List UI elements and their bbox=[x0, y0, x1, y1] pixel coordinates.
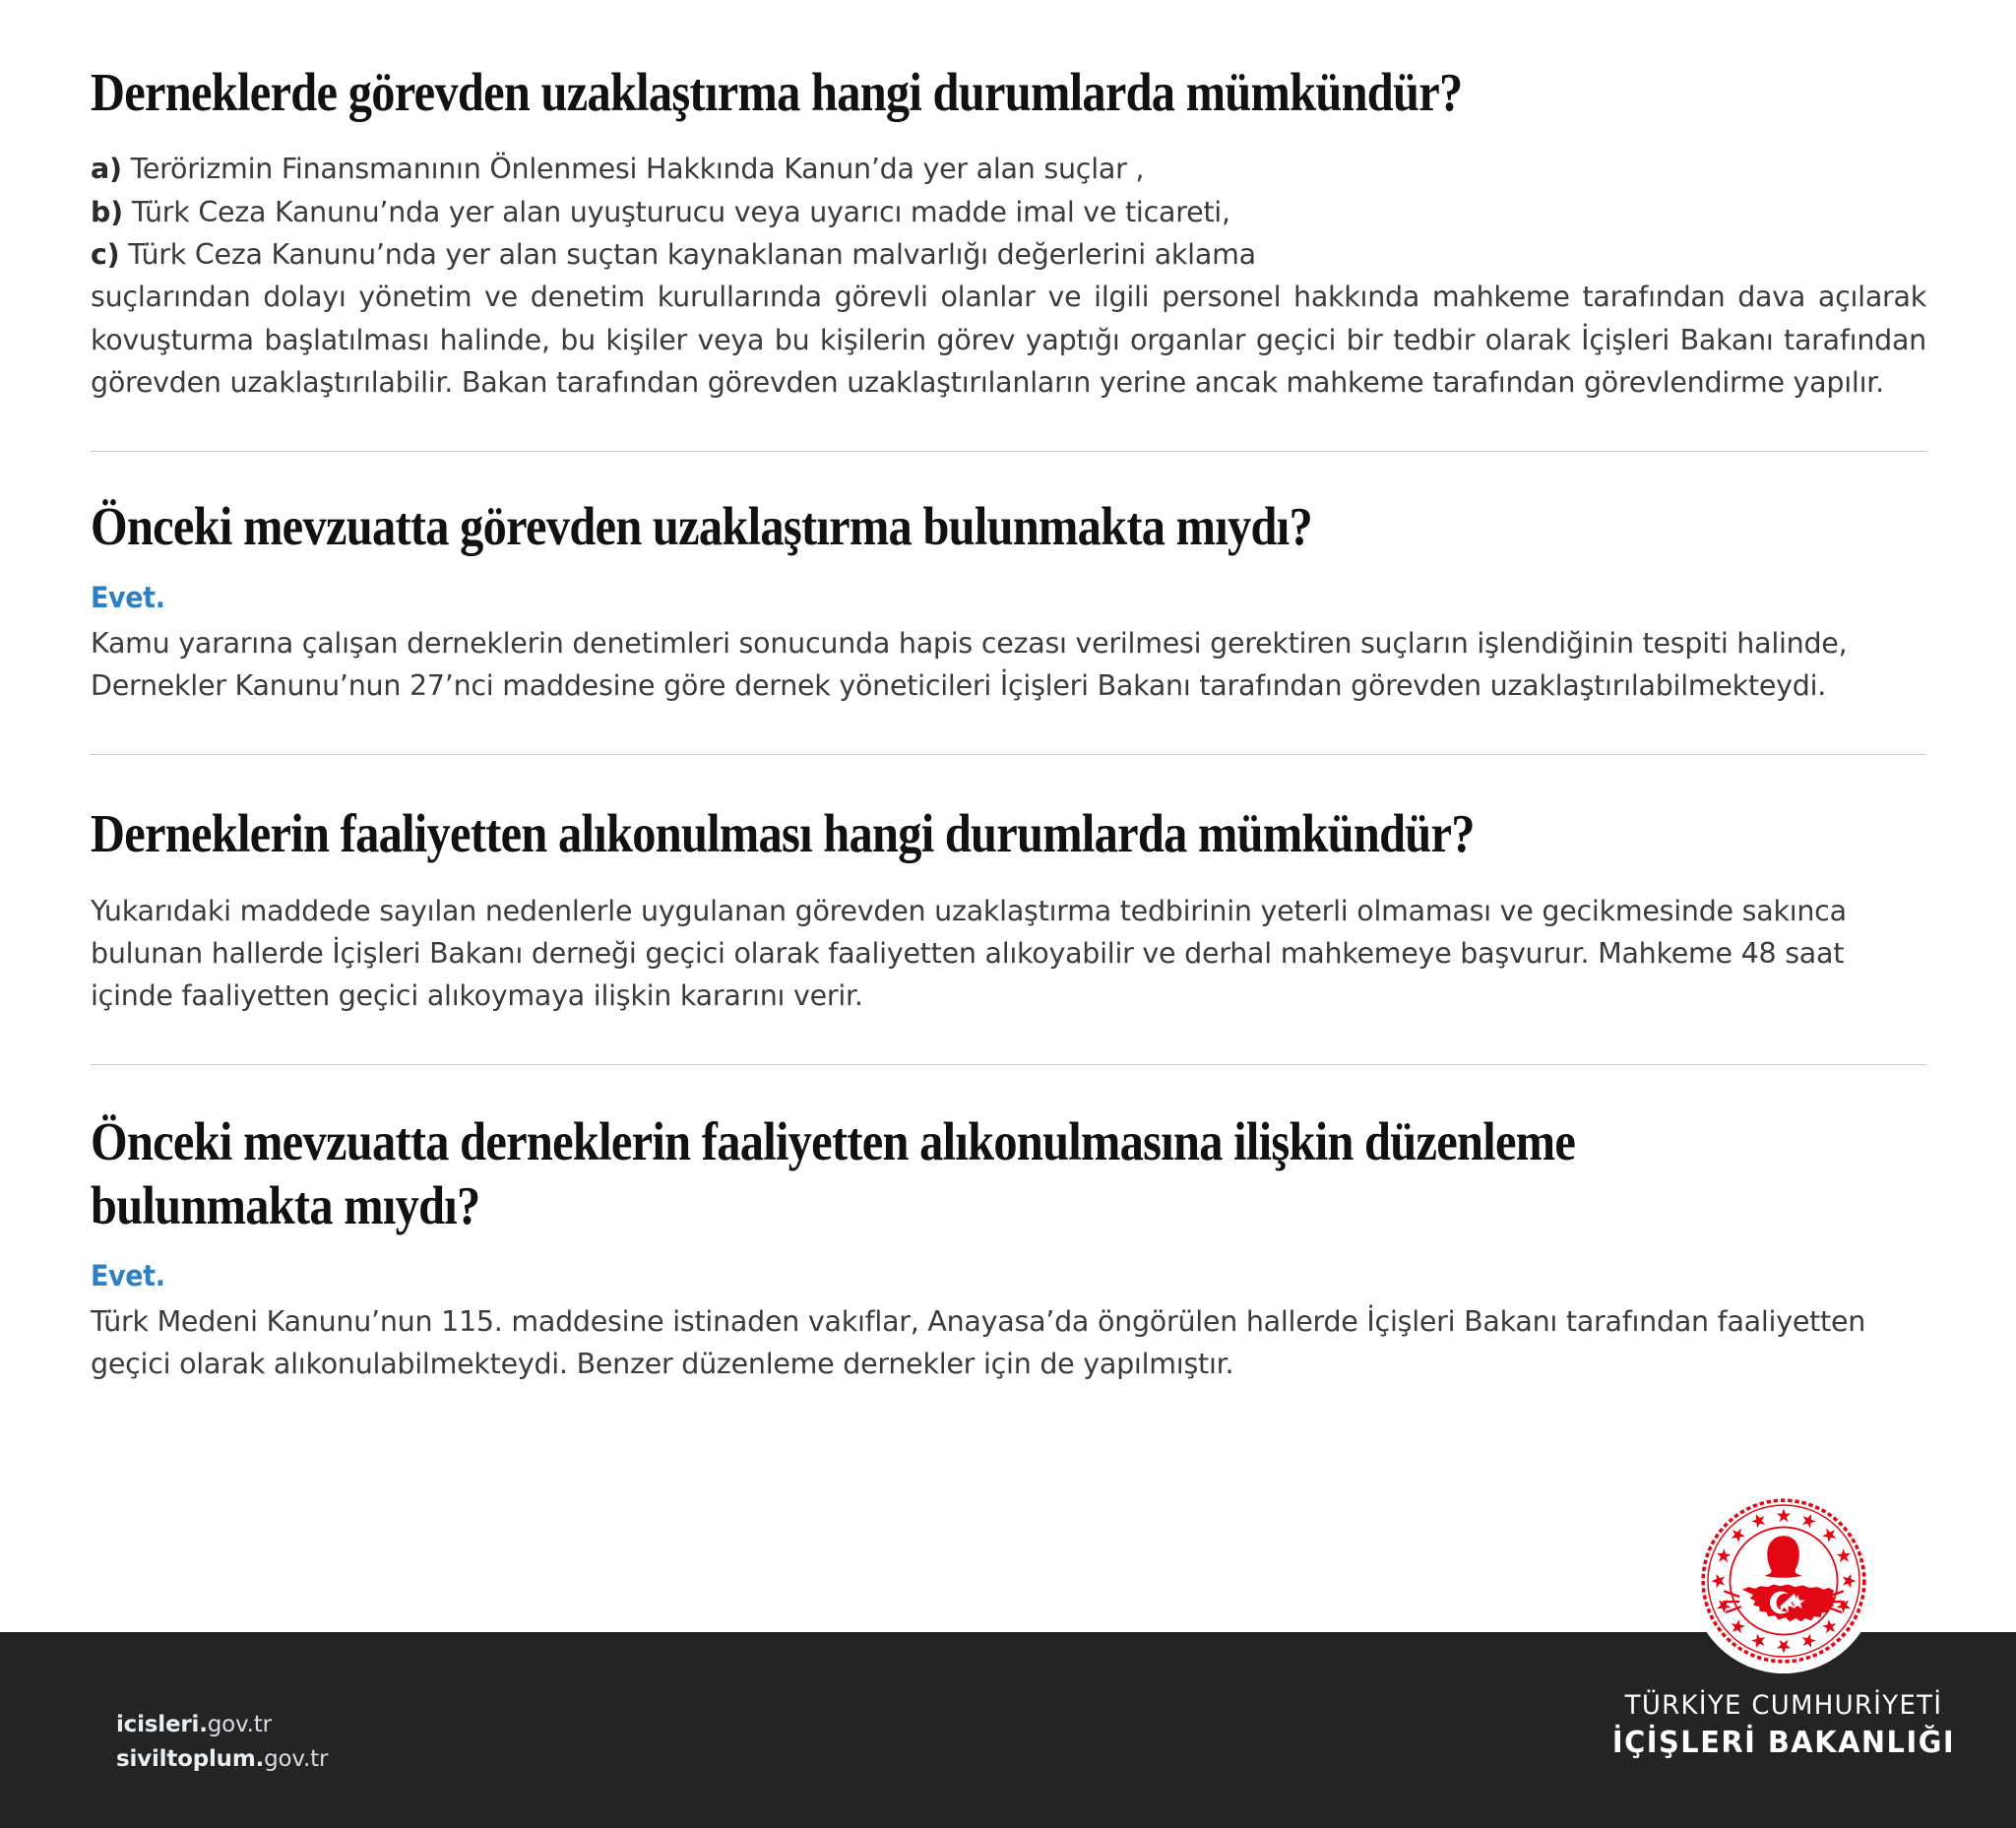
ministry-seal-backdrop bbox=[1691, 1488, 1876, 1673]
footer-link-siviltoplum[interactable]: siviltoplum.gov.tr bbox=[116, 1742, 328, 1777]
ataturk-silhouette bbox=[1765, 1536, 1802, 1577]
section-1-paragraph: suçlarından dolayı yönetim ve denetim ku… bbox=[91, 276, 1926, 404]
footer-link-domain: icisleri. bbox=[116, 1712, 208, 1737]
list-item-text: Terörizmin Finansmanının Önlenmesi Hakkı… bbox=[131, 153, 1145, 185]
list-marker: a) bbox=[91, 153, 122, 185]
section-heading-3: Derneklerin faaliyetten alıkonulması han… bbox=[91, 802, 1706, 865]
section-1-list: a) Terörizmin Finansmanının Önlenmesi Ha… bbox=[91, 148, 1926, 276]
footer-link-tld: gov.tr bbox=[264, 1746, 328, 1772]
ministry-branding: TÜRKİYE CUMHURİYETİ İÇİŞLERİ BAKANLIĞI bbox=[1575, 1488, 1988, 1828]
section-heading-4: Önceki mevzuatta derneklerin faaliyetten… bbox=[91, 1110, 1650, 1237]
list-item: b) Türk Ceza Kanunu’nda yer alan uyuştur… bbox=[91, 191, 1926, 233]
list-marker: c) bbox=[91, 238, 119, 271]
section-4-paragraph: Türk Medeni Kanunu’nun 115. maddesine is… bbox=[91, 1300, 1926, 1386]
section-heading-2: Önceki mevzuatta görevden uzaklaştırma b… bbox=[91, 495, 1706, 558]
ministry-name: TÜRKİYE CUMHURİYETİ İÇİŞLERİ BAKANLIĞI bbox=[1597, 1690, 1971, 1760]
list-item-text: Türk Ceza Kanunu’nda yer alan suçtan kay… bbox=[128, 238, 1256, 271]
document-content: Derneklerde görevden uzaklaştırma hangi … bbox=[91, 0, 1926, 1386]
section-3-paragraph: Yukarıdaki maddede sayılan nedenlerle uy… bbox=[91, 890, 1926, 1018]
document-page: Derneklerde görevden uzaklaştırma hangi … bbox=[0, 0, 2016, 1828]
list-marker: b) bbox=[91, 196, 123, 228]
turkish-ministry-of-interior-seal-icon bbox=[1697, 1494, 1870, 1668]
footer-link-tld: gov.tr bbox=[208, 1712, 272, 1737]
answer-label: Evet. bbox=[91, 581, 165, 614]
list-item-text: Türk Ceza Kanunu’nda yer alan uyuşturucu… bbox=[132, 196, 1230, 228]
answer-label-wrap: Evet. bbox=[91, 1259, 1926, 1292]
answer-label-wrap: Evet. bbox=[91, 581, 1926, 614]
section-2-paragraph: Kamu yararına çalışan derneklerin deneti… bbox=[91, 622, 1926, 708]
section-heading-1: Derneklerde görevden uzaklaştırma hangi … bbox=[91, 61, 1706, 124]
list-item: a) Terörizmin Finansmanının Önlenmesi Ha… bbox=[91, 148, 1926, 190]
footer-links: icisleri.gov.tr siviltoplum.gov.tr bbox=[116, 1708, 328, 1777]
ministry-department-line: İÇİŞLERİ BAKANLIĞI bbox=[1605, 1726, 1964, 1760]
footer-link-domain: siviltoplum. bbox=[116, 1746, 264, 1772]
answer-label: Evet. bbox=[91, 1259, 165, 1292]
list-item: c) Türk Ceza Kanunu’nda yer alan suçtan … bbox=[91, 233, 1926, 276]
footer-link-icisleri[interactable]: icisleri.gov.tr bbox=[116, 1708, 328, 1742]
ministry-republic-line: TÜRKİYE CUMHURİYETİ bbox=[1605, 1690, 1964, 1721]
